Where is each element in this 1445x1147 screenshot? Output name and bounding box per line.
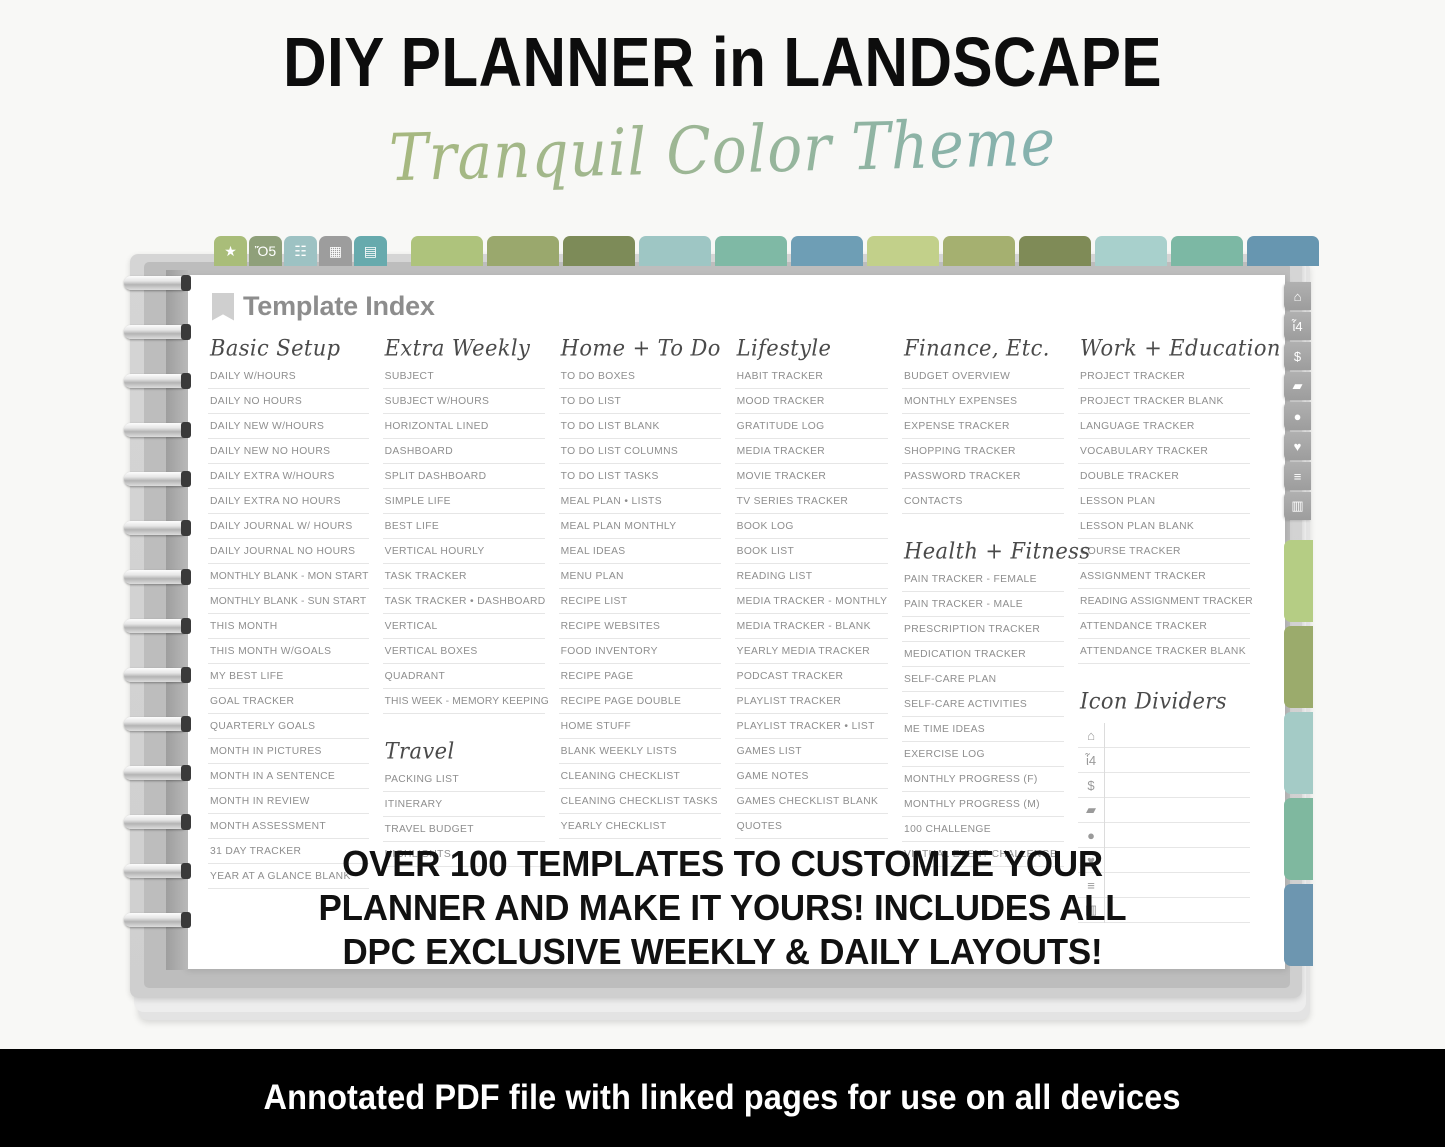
dumbbell-icon-tab[interactable]: ≡ — [1284, 462, 1311, 490]
color-tab-10[interactable] — [1095, 236, 1167, 266]
color-tab-5[interactable] — [715, 236, 787, 266]
calendar2-tab[interactable]: ☷ — [284, 236, 317, 266]
index-item[interactable]: PROJECT TRACKER — [1078, 370, 1250, 389]
index-item[interactable]: DASHBOARD — [383, 445, 545, 464]
index-item[interactable]: THIS MONTH W/GOALS — [208, 645, 369, 664]
spiral-ring — [124, 325, 188, 339]
side-color-tab-1[interactable] — [1284, 540, 1313, 622]
color-tab-11[interactable] — [1171, 236, 1243, 266]
color-tab-8[interactable] — [943, 236, 1015, 266]
index-item[interactable]: PLAYLIST TRACKER • LIST — [735, 720, 888, 739]
index-item[interactable]: LESSON PLAN BLANK — [1078, 520, 1250, 539]
color-tab-3[interactable] — [563, 236, 635, 266]
index-item[interactable]: SPLIT DASHBOARD — [383, 470, 545, 489]
index-item[interactable]: CLEANING CHECKLIST — [559, 770, 721, 789]
index-item[interactable]: MONTH ASSESSMENT — [208, 820, 369, 839]
index-item[interactable]: MEAL PLAN MONTHLY — [559, 520, 721, 539]
index-item[interactable]: MONTHLY PROGRESS (F) — [902, 773, 1064, 792]
icon-divider-row[interactable]: ⌂ — [1078, 723, 1250, 748]
spiral-ring — [124, 766, 188, 780]
spiral-ring — [124, 570, 188, 584]
index-item[interactable]: MOOD TRACKER — [735, 395, 888, 414]
spiral-ring — [124, 521, 188, 535]
dollar-icon: $ — [1294, 349, 1301, 364]
index-item[interactable]: DAILY NEW W/HOURS — [208, 420, 369, 439]
location-icon-tab[interactable]: ● — [1284, 402, 1311, 430]
folder-icon: ▰ — [1293, 378, 1303, 394]
top-tab-strip[interactable]: ★Ὄ5☷▦▤ — [214, 236, 1324, 266]
template-index-title: Template Index — [243, 291, 435, 322]
color-tab-9[interactable] — [1019, 236, 1091, 266]
index-item[interactable]: MENU PLAN — [559, 570, 721, 589]
index-item[interactable]: MEDIA TRACKER - MONTHLY — [735, 595, 888, 614]
index-item[interactable]: LANGUAGE TRACKER — [1078, 420, 1250, 439]
index-item[interactable]: QUARTERLY GOALS — [208, 720, 369, 739]
icon-divider-row[interactable]: ▰ — [1078, 798, 1250, 823]
side-color-tab-3[interactable] — [1284, 712, 1313, 794]
index-item[interactable]: VERTICAL — [383, 620, 545, 639]
spiral-ring — [124, 276, 188, 290]
spiral-ring — [124, 717, 188, 731]
index-item[interactable]: 100 CHALLENGE — [902, 823, 1064, 842]
index-item[interactable]: HOME STUFF — [559, 720, 721, 739]
page-header: Template Index — [212, 291, 435, 322]
index-item[interactable]: BLANK WEEKLY LISTS — [559, 745, 721, 764]
index-item[interactable]: QUADRANT — [383, 670, 545, 689]
promo-overlay: OVER 100 TEMPLATES TO CUSTOMIZE YOUR PLA… — [22, 842, 1424, 974]
index-item[interactable]: YEARLY MEDIA TRACKER — [735, 645, 888, 664]
index-item[interactable]: PASSWORD TRACKER — [902, 470, 1064, 489]
index-item[interactable]: EXERCISE LOG — [902, 748, 1064, 767]
index-item[interactable]: GRATITUDE LOG — [735, 420, 888, 439]
index-item[interactable]: DAILY W/HOURS — [208, 370, 369, 389]
index-item[interactable]: MONTH IN PICTURES — [208, 745, 369, 764]
index-item[interactable]: GAME NOTES — [735, 770, 888, 789]
spiral-ring — [124, 374, 188, 388]
index-item[interactable]: BEST LIFE — [383, 520, 545, 539]
index-item[interactable]: MONTHLY BLANK - MON START — [208, 570, 369, 589]
index-item[interactable]: VOCABULARY TRACKER — [1078, 445, 1250, 464]
section-heading: Lifestyle — [737, 336, 888, 361]
index-item[interactable]: QUOTES — [735, 820, 888, 839]
index-item[interactable]: CONTACTS — [902, 495, 1064, 514]
index-item[interactable]: FOOD INVENTORY — [559, 645, 721, 664]
utensils-icon: ἷ4 — [1292, 319, 1302, 334]
section-heading: Basic Setup — [210, 336, 369, 361]
index-item[interactable]: DOUBLE TRACKER — [1078, 470, 1250, 489]
header: DIY PLANNER in LANDSCAPE Tranquil Color … — [0, 0, 1445, 215]
index-item[interactable]: COURSE TRACKER — [1078, 545, 1250, 564]
spiral-ring — [124, 619, 188, 633]
location-icon: ● — [1078, 828, 1104, 843]
utensils-icon: ἷ4 — [1078, 753, 1104, 768]
index-item[interactable]: DAILY EXTRA W/HOURS — [208, 470, 369, 489]
section-heading: Finance, Etc. — [904, 336, 1064, 361]
section-heading: Travel — [385, 739, 545, 764]
index-item[interactable]: HABIT TRACKER — [735, 370, 888, 389]
index-item[interactable]: LESSON PLAN — [1078, 495, 1250, 514]
index-item[interactable]: ME TIME IDEAS — [902, 723, 1064, 742]
index-item[interactable]: MEDIA TRACKER — [735, 445, 888, 464]
index-item[interactable]: PODCAST TRACKER — [735, 670, 888, 689]
banner-text: Annotated PDF file with linked pages for… — [264, 1078, 1181, 1118]
heart-icon-tab[interactable]: ♥ — [1284, 432, 1311, 460]
table-tab[interactable]: ▤ — [354, 236, 387, 266]
color-tab-7[interactable] — [867, 236, 939, 266]
index-item[interactable]: DAILY JOURNAL NO HOURS — [208, 545, 369, 564]
promo-line-1: OVER 100 TEMPLATES TO CUSTOMIZE YOUR — [22, 842, 1424, 886]
index-item[interactable]: PACKING LIST — [383, 773, 545, 792]
index-item[interactable]: DAILY EXTRA NO HOURS — [208, 495, 369, 514]
icon-divider-row[interactable]: $ — [1078, 773, 1250, 798]
index-item[interactable]: TO DO BOXES — [559, 370, 721, 389]
icon-divider-row[interactable]: ἷ4 — [1078, 748, 1250, 773]
table-tab-glyph: ▤ — [364, 244, 377, 258]
index-item[interactable]: BUDGET OVERVIEW — [902, 370, 1064, 389]
heart-icon: ♥ — [1294, 439, 1302, 454]
index-item[interactable]: SIMPLE LIFE — [383, 495, 545, 514]
promo-line-2: PLANNER AND MAKE IT YOURS! INCLUDES ALL — [22, 886, 1424, 930]
spiral-ring — [124, 668, 188, 682]
folder-icon: ▰ — [1078, 802, 1104, 818]
index-item[interactable]: MEDICATION TRACKER — [902, 648, 1064, 667]
index-item[interactable]: GAMES LIST — [735, 745, 888, 764]
index-item[interactable]: EXPENSE TRACKER — [902, 420, 1064, 439]
dumbbell-icon: ≡ — [1294, 469, 1302, 484]
index-item[interactable]: GOAL TRACKER — [208, 695, 369, 714]
index-item[interactable]: SUBJECT W/HOURS — [383, 395, 545, 414]
index-item[interactable]: TASK TRACKER — [383, 570, 545, 589]
color-tab-6[interactable] — [791, 236, 863, 266]
index-item[interactable]: SELF-CARE PLAN — [902, 673, 1064, 692]
index-item[interactable]: TRAVEL BUDGET — [383, 823, 545, 842]
books-icon: ▥ — [1291, 498, 1303, 514]
dollar-icon-tab[interactable]: $ — [1284, 342, 1311, 370]
index-item[interactable]: DAILY JOURNAL W/ HOURS — [208, 520, 369, 539]
index-item[interactable]: TO DO LIST TASKS — [559, 470, 721, 489]
spiral-ring — [124, 472, 188, 486]
divider-rule — [1104, 723, 1105, 748]
index-item[interactable]: RECIPE PAGE — [559, 670, 721, 689]
color-tab-2[interactable] — [487, 236, 559, 266]
index-item[interactable]: VERTICAL BOXES — [383, 645, 545, 664]
color-tab-1[interactable] — [411, 236, 483, 266]
books-icon-tab[interactable]: ▥ — [1284, 492, 1311, 520]
index-item[interactable]: GAMES CHECKLIST BLANK — [735, 795, 888, 814]
page-subtitle: Tranquil Color Theme — [0, 95, 1445, 205]
index-item[interactable]: READING LIST — [735, 570, 888, 589]
index-item[interactable]: RECIPE WEBSITES — [559, 620, 721, 639]
index-item[interactable]: HORIZONTAL LINED — [383, 420, 545, 439]
index-item[interactable]: MONTHLY EXPENSES — [902, 395, 1064, 414]
folder-icon-tab[interactable]: ▰ — [1284, 372, 1311, 400]
side-color-tab-2[interactable] — [1284, 626, 1313, 708]
location-icon: ● — [1294, 409, 1302, 424]
index-item[interactable]: TO DO LIST BLANK — [559, 420, 721, 439]
index-item[interactable]: ATTENDANCE TRACKER — [1078, 620, 1250, 639]
index-item[interactable]: TO DO LIST COLUMNS — [559, 445, 721, 464]
index-item[interactable]: PAIN TRACKER - FEMALE — [902, 573, 1064, 592]
divider-rule — [1104, 748, 1105, 773]
promo-line-3: DPC EXCLUSIVE WEEKLY & DAILY LAYOUTS! — [22, 930, 1424, 974]
index-item[interactable]: SUBJECT — [383, 370, 545, 389]
index-item[interactable]: ITINERARY — [383, 798, 545, 817]
index-item[interactable]: ATTENDANCE TRACKER BLANK — [1078, 645, 1250, 664]
index-item[interactable]: RECIPE PAGE DOUBLE — [559, 695, 721, 714]
index-item[interactable]: SELF-CARE ACTIVITIES — [902, 698, 1064, 717]
index-item[interactable]: MEAL IDEAS — [559, 545, 721, 564]
index-item[interactable]: MEDIA TRACKER - BLANK — [735, 620, 888, 639]
index-item[interactable]: PRESCRIPTION TRACKER — [902, 623, 1064, 642]
index-item[interactable]: TASK TRACKER • DASHBOARD — [383, 595, 545, 614]
index-item[interactable]: BOOK LIST — [735, 545, 888, 564]
grid-tab-glyph: ▦ — [329, 244, 342, 258]
index-item[interactable]: SHOPPING TRACKER — [902, 445, 1064, 464]
calendar2-tab-glyph: ☷ — [294, 244, 307, 258]
index-item[interactable]: MONTH IN REVIEW — [208, 795, 369, 814]
divider-rule — [1104, 798, 1105, 823]
spiral-ring — [124, 423, 188, 437]
index-item[interactable]: MOVIE TRACKER — [735, 470, 888, 489]
color-tab-12[interactable] — [1247, 236, 1319, 266]
index-item[interactable]: MY BEST LIFE — [208, 670, 369, 689]
index-item[interactable]: PLAYLIST TRACKER — [735, 695, 888, 714]
index-item[interactable]: PAIN TRACKER - MALE — [902, 598, 1064, 617]
index-item[interactable]: DAILY NO HOURS — [208, 395, 369, 414]
index-item[interactable]: BOOK LOG — [735, 520, 888, 539]
home-icon-tab[interactable]: ⌂ — [1284, 282, 1311, 310]
divider-rule — [1104, 773, 1105, 798]
index-item[interactable]: RECIPE LIST — [559, 595, 721, 614]
index-item[interactable]: DAILY NEW NO HOURS — [208, 445, 369, 464]
utensils-icon-tab[interactable]: ἷ4 — [1284, 312, 1311, 340]
star-tab-glyph: ★ — [224, 244, 237, 258]
home-icon: ⌂ — [1078, 728, 1104, 743]
index-item[interactable]: MEAL PLAN • LISTS — [559, 495, 721, 514]
section-heading: Extra Weekly — [385, 336, 545, 361]
index-item[interactable]: MONTH IN A SENTENCE — [208, 770, 369, 789]
index-item[interactable]: VERTICAL HOURLY — [383, 545, 545, 564]
bottom-banner: Annotated PDF file with linked pages for… — [0, 1049, 1445, 1147]
calendar-tab-glyph: Ὄ5 — [255, 244, 276, 258]
section-heading: Work + Education — [1080, 336, 1250, 361]
bookmark-icon — [212, 293, 234, 321]
index-item[interactable]: ASSIGNMENT TRACKER — [1078, 570, 1250, 589]
grid-tab[interactable]: ▦ — [319, 236, 352, 266]
star-tab[interactable]: ★ — [214, 236, 247, 266]
index-item[interactable]: THIS MONTH — [208, 620, 369, 639]
index-item[interactable]: READING ASSIGNMENT TRACKER — [1078, 595, 1250, 614]
index-item[interactable]: CLEANING CHECKLIST TASKS — [559, 795, 721, 814]
color-tab-4[interactable] — [639, 236, 711, 266]
index-item[interactable]: MONTHLY BLANK - SUN START — [208, 595, 369, 614]
page-title: DIY PLANNER in LANDSCAPE — [101, 22, 1344, 102]
index-item[interactable]: TV SERIES TRACKER — [735, 495, 888, 514]
section-heading: Icon Dividers — [1080, 689, 1250, 714]
index-item[interactable]: PROJECT TRACKER BLANK — [1078, 395, 1250, 414]
home-icon: ⌂ — [1294, 289, 1302, 304]
index-item[interactable]: THIS WEEK - MEMORY KEEPING — [383, 695, 545, 714]
calendar-tab[interactable]: Ὄ5 — [249, 236, 282, 266]
poster-root: DIY PLANNER in LANDSCAPE Tranquil Color … — [0, 0, 1445, 1147]
index-item[interactable]: MONTHLY PROGRESS (M) — [902, 798, 1064, 817]
index-item[interactable]: YEARLY CHECKLIST — [559, 820, 721, 839]
index-item[interactable]: TO DO LIST — [559, 395, 721, 414]
spiral-ring — [124, 815, 188, 829]
dollar-icon: $ — [1078, 778, 1104, 793]
section-heading: Health + Fitness — [904, 539, 1064, 564]
section-heading: Home + To Do — [561, 336, 721, 361]
